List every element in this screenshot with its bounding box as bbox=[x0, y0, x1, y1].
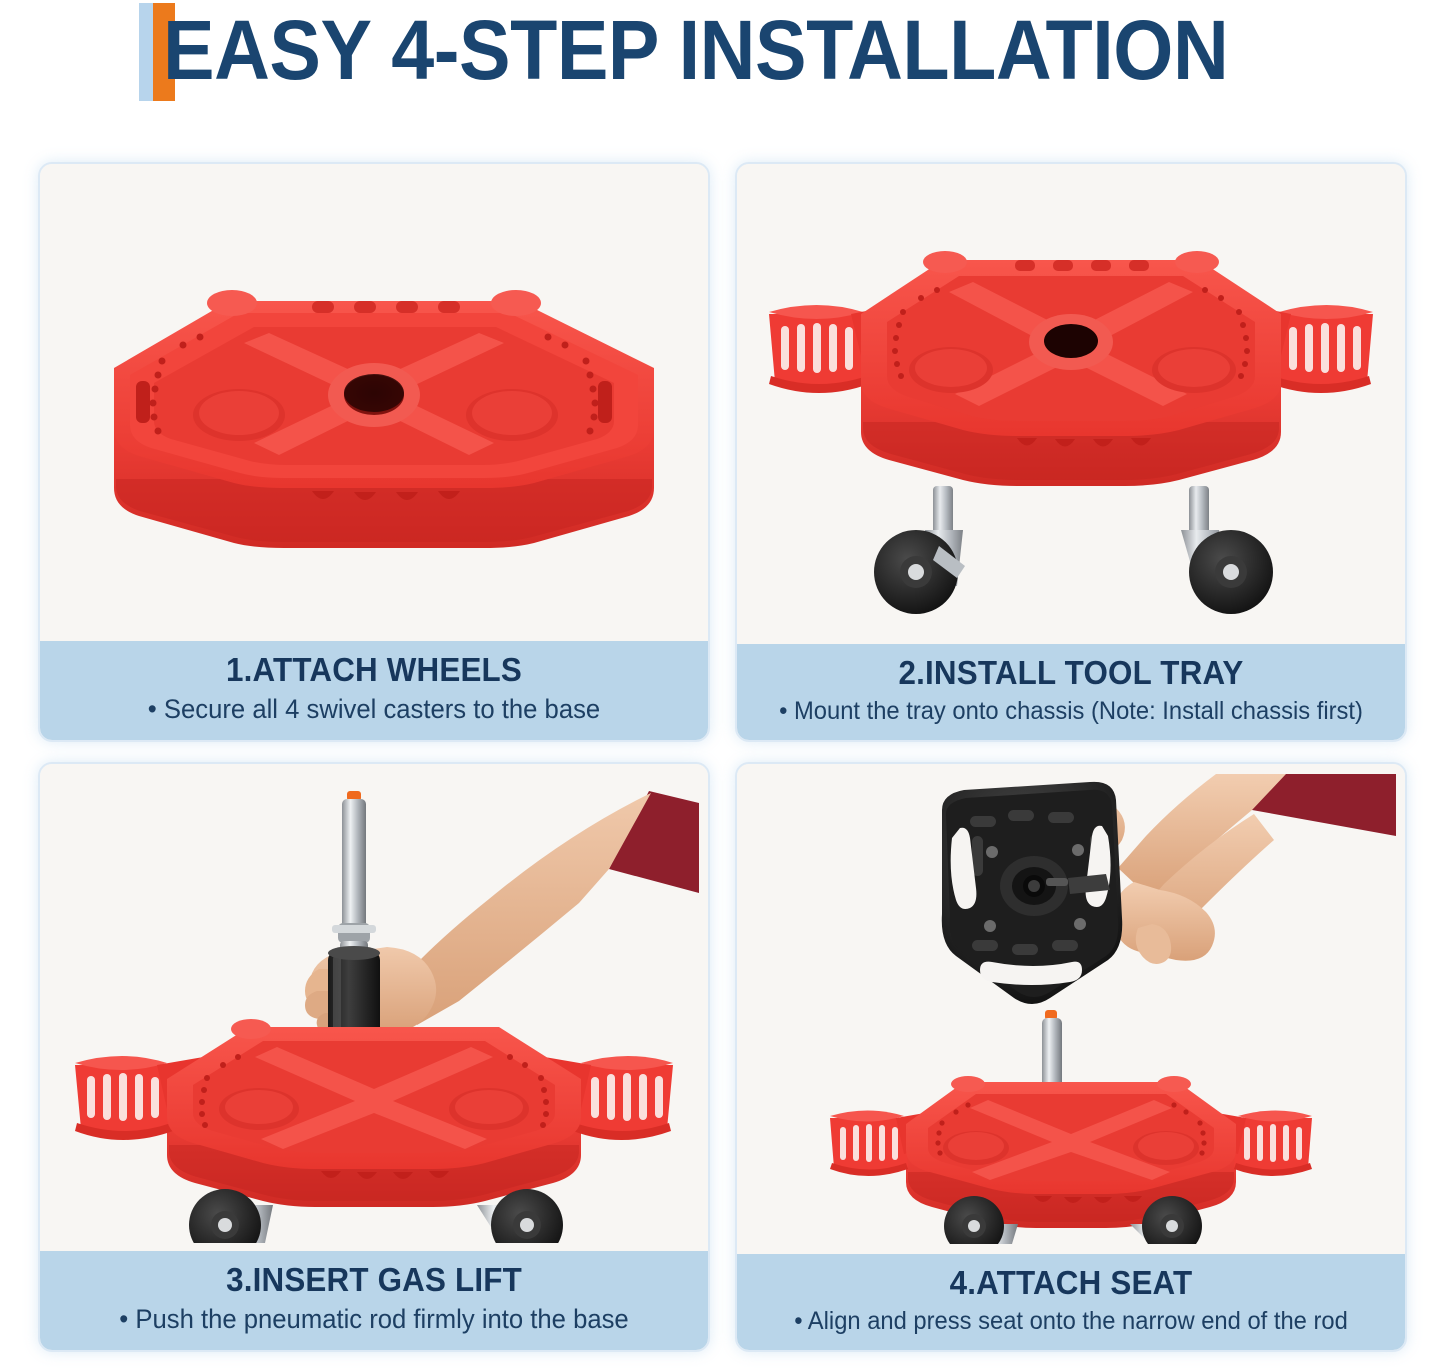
step-2-caption: 2.INSTALL TOOL TRAY • Mount the tray ont… bbox=[737, 644, 1405, 740]
seat-pan bbox=[942, 782, 1122, 1004]
caster-right bbox=[1181, 486, 1273, 614]
step-3-figure bbox=[40, 764, 708, 1251]
step-4-figure bbox=[737, 764, 1405, 1254]
step-card-4: 4.ATTACH SEAT • Align and press seat ont… bbox=[735, 762, 1407, 1352]
accent-bar-blue bbox=[139, 3, 153, 101]
page-title: EASY 4-STEP INSTALLATION bbox=[163, 0, 1228, 100]
left-basket-4 bbox=[830, 1110, 908, 1176]
step-1-title: 1.ATTACH WHEELS bbox=[66, 651, 682, 690]
step-card-1: 1.ATTACH WHEELS • Secure all 4 swivel ca… bbox=[38, 162, 710, 742]
step-1-figure bbox=[40, 164, 708, 641]
step-4-title: 4.ATTACH SEAT bbox=[763, 1264, 1379, 1303]
step-1-caption: 1.ATTACH WHEELS • Secure all 4 swivel ca… bbox=[40, 641, 708, 740]
right-basket-4 bbox=[1234, 1110, 1312, 1176]
step-card-2: 2.INSTALL TOOL TRAY • Mount the tray ont… bbox=[735, 162, 1407, 742]
forearm bbox=[399, 793, 651, 1025]
installation-infographic: EASY 4-STEP INSTALLATION bbox=[0, 0, 1445, 1368]
step-4-subtitle: • Align and press seat onto the narrow e… bbox=[763, 1306, 1379, 1337]
page-header: EASY 4-STEP INSTALLATION bbox=[0, 0, 1445, 118]
caster-left bbox=[874, 486, 965, 614]
step-2-figure bbox=[737, 164, 1405, 644]
tray-with-casters-illustration bbox=[751, 194, 1391, 614]
step-3-title: 3.INSERT GAS LIFT bbox=[66, 1261, 682, 1300]
steps-grid: 1.ATTACH WHEELS • Secure all 4 swivel ca… bbox=[0, 150, 1445, 1350]
hand-inserting-gas-lift-illustration bbox=[49, 773, 699, 1243]
red-base-tray-illustration bbox=[54, 203, 694, 603]
step-2-title: 2.INSTALL TOOL TRAY bbox=[763, 654, 1379, 693]
step-3-subtitle: • Push the pneumatic rod firmly into the… bbox=[66, 1303, 682, 1336]
hands-attaching-seat-illustration bbox=[746, 774, 1396, 1244]
step-card-3: 3.INSERT GAS LIFT • Push the pneumatic r… bbox=[38, 762, 710, 1352]
step-3-caption: 3.INSERT GAS LIFT • Push the pneumatic r… bbox=[40, 1251, 708, 1350]
step-2-subtitle: • Mount the tray onto chassis (Note: Ins… bbox=[763, 696, 1379, 727]
step-1-subtitle: • Secure all 4 swivel casters to the bas… bbox=[66, 693, 682, 726]
step-4-caption: 4.ATTACH SEAT • Align and press seat ont… bbox=[737, 1254, 1405, 1350]
